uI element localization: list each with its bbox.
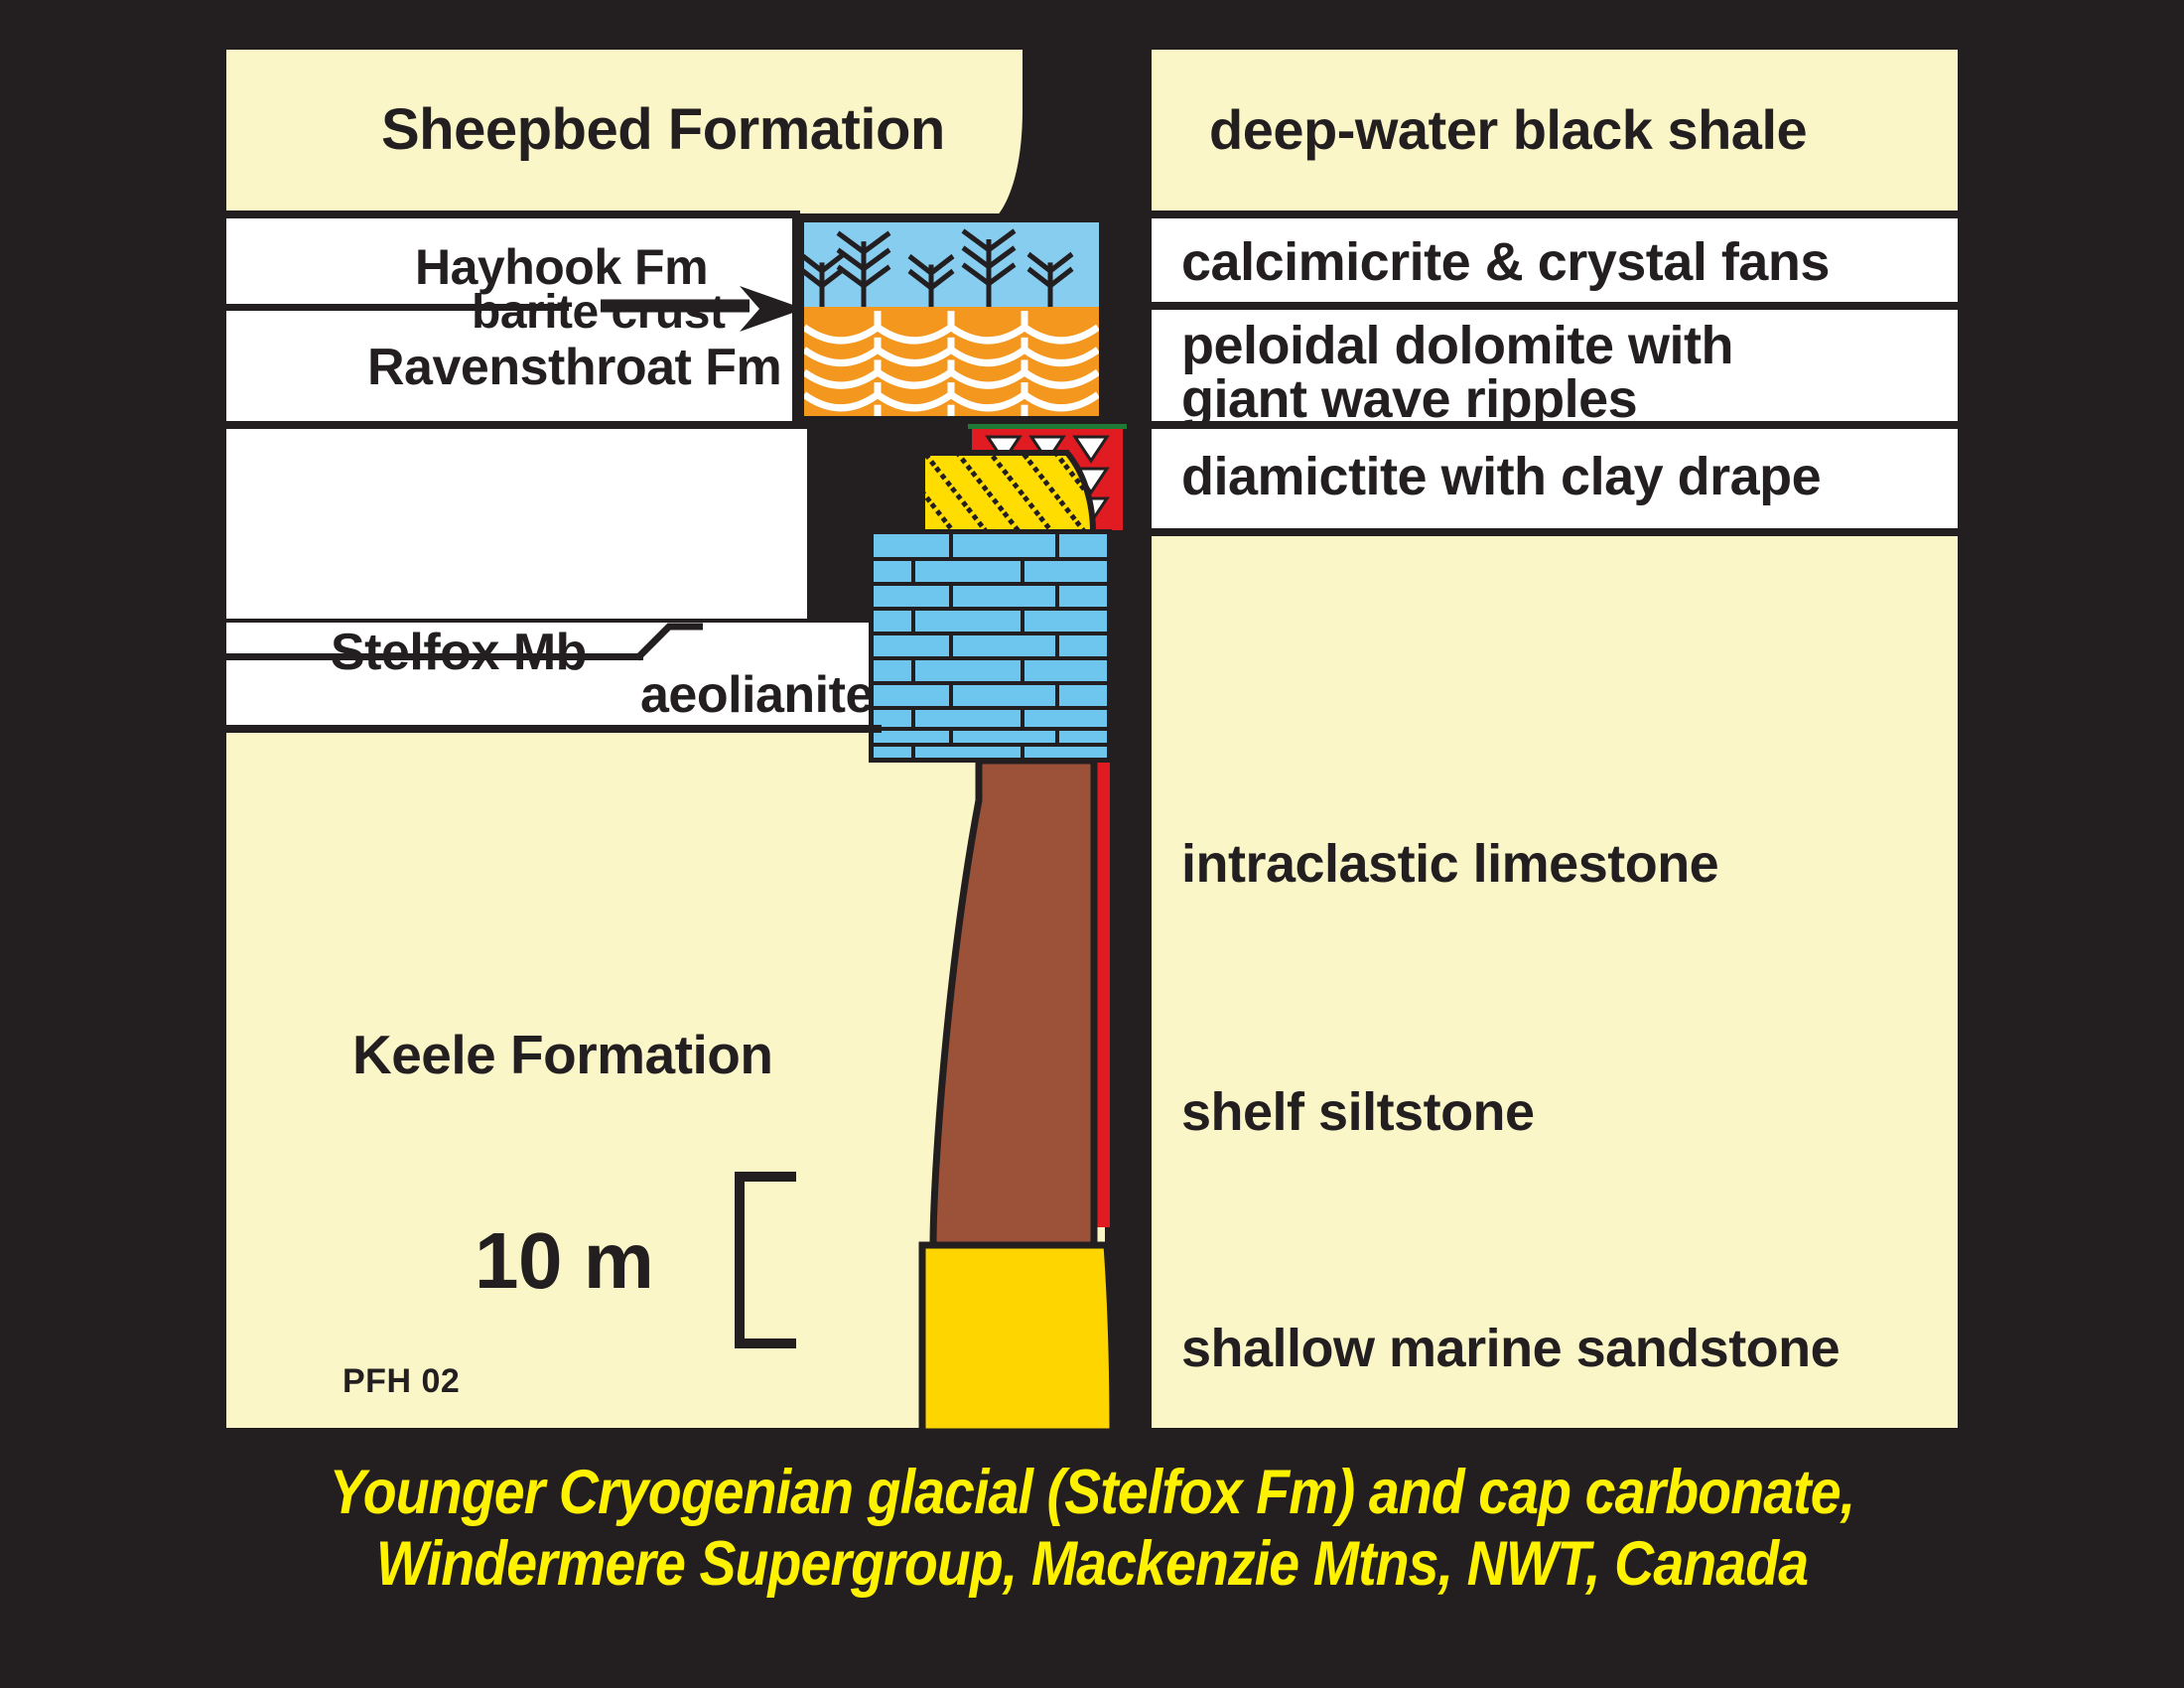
- lith-peloidal-dolomite: [799, 307, 1104, 421]
- label-stelfox-mb: Stelfox Mb: [331, 623, 587, 682]
- lith-shallow-marine-sandstone: [918, 1241, 1117, 1435]
- lith-calcimicrite-crystal-fans: [799, 217, 1104, 307]
- figure-caption: Younger Cryogenian glacial (Stelfox Fm) …: [131, 1458, 2053, 1601]
- crystal-fan-pattern-icon: [804, 222, 1099, 307]
- divider-ravensthroat-stelfox: [226, 421, 807, 429]
- lith-shelf-siltstone: [854, 761, 1114, 1247]
- brick-pattern-icon: [874, 534, 1107, 758]
- panel-ravensthroat: [226, 425, 807, 619]
- divider-sheepbed-hayhook: [226, 211, 800, 218]
- label-sheepbed-formation: Sheepbed Formation: [381, 96, 945, 163]
- figure-root: Sheepbed Formation Hayhook Fm barite cru…: [0, 0, 2184, 1688]
- scale-bar-label: 10 m: [475, 1215, 653, 1307]
- label-barite-crust: barite crust: [472, 285, 725, 340]
- desc-diamictite-clay-drape: diamictite with clay drape: [1181, 447, 1821, 506]
- desc-shelf-siltstone: shelf siltstone: [1181, 1082, 1535, 1142]
- specimen-id: PFH 02: [342, 1362, 460, 1401]
- stelfox-leader-line: [635, 623, 705, 662]
- wave-ripple-pattern-icon: [804, 307, 1099, 416]
- desc-calcimicrite-crystal-fans: calcimicrite & crystal fans: [1181, 232, 1830, 292]
- caption-line-2: Windermere Supergroup, Mackenzie Mtns, N…: [131, 1529, 2053, 1601]
- divider-right-shale-calcimicrite: [1152, 211, 1958, 218]
- barite-leader-line: [226, 304, 343, 311]
- desc-deep-water-black-shale: deep-water black shale: [1209, 99, 1807, 162]
- lith-aeolianite: [918, 449, 1107, 536]
- desc-peloidal-dolomite-line1: peloidal dolomite with: [1181, 316, 1733, 375]
- caption-line-1: Younger Cryogenian glacial (Stelfox Fm) …: [131, 1458, 2053, 1529]
- scale-bar: [735, 1172, 804, 1348]
- divider-aeolianite-keele: [226, 725, 882, 733]
- lith-intraclastic-limestone: [869, 529, 1112, 763]
- desc-shallow-marine-sandstone: shallow marine sandstone: [1181, 1319, 1840, 1378]
- label-aeolianite: aeolianite: [640, 665, 874, 725]
- divider-right-calcimicrite-dolomite: [1152, 302, 1958, 310]
- divider-right-diamictite-limestone: [1152, 528, 1958, 536]
- lith-black-shale-flare: [993, 50, 1112, 220]
- desc-intraclastic-limestone: intraclastic limestone: [1181, 834, 1718, 894]
- desc-peloidal-dolomite-line2: giant wave ripples: [1181, 369, 1637, 429]
- label-ravensthroat-fm: Ravensthroat Fm: [367, 338, 781, 397]
- panel-desc-lower: [1152, 536, 1958, 1428]
- label-keele-formation: Keele Formation: [352, 1023, 772, 1086]
